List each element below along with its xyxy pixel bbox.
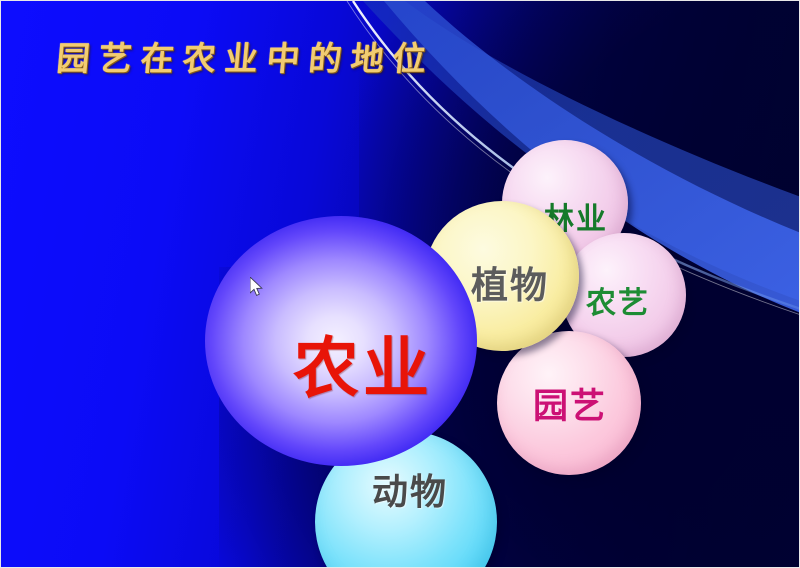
- bubble-animals-label: 动物: [372, 475, 448, 511]
- slide-title: 园艺在农业中的地位: [55, 32, 437, 80]
- presentation-slide: 园艺在农业中的地位 林业 农艺 园艺 植物 动物 农业: [0, 0, 800, 568]
- bubble-agriculture-label: 农业: [293, 336, 433, 402]
- bubble-agronomy-label: 农艺: [586, 289, 650, 319]
- bubble-plants-label: 植物: [471, 267, 549, 304]
- bubble-horticulture-label: 园艺: [533, 390, 607, 425]
- mouse-cursor: [250, 277, 264, 298]
- bubble-horticulture[interactable]: 园艺: [497, 331, 641, 475]
- bubble-agriculture[interactable]: 农业: [205, 216, 477, 466]
